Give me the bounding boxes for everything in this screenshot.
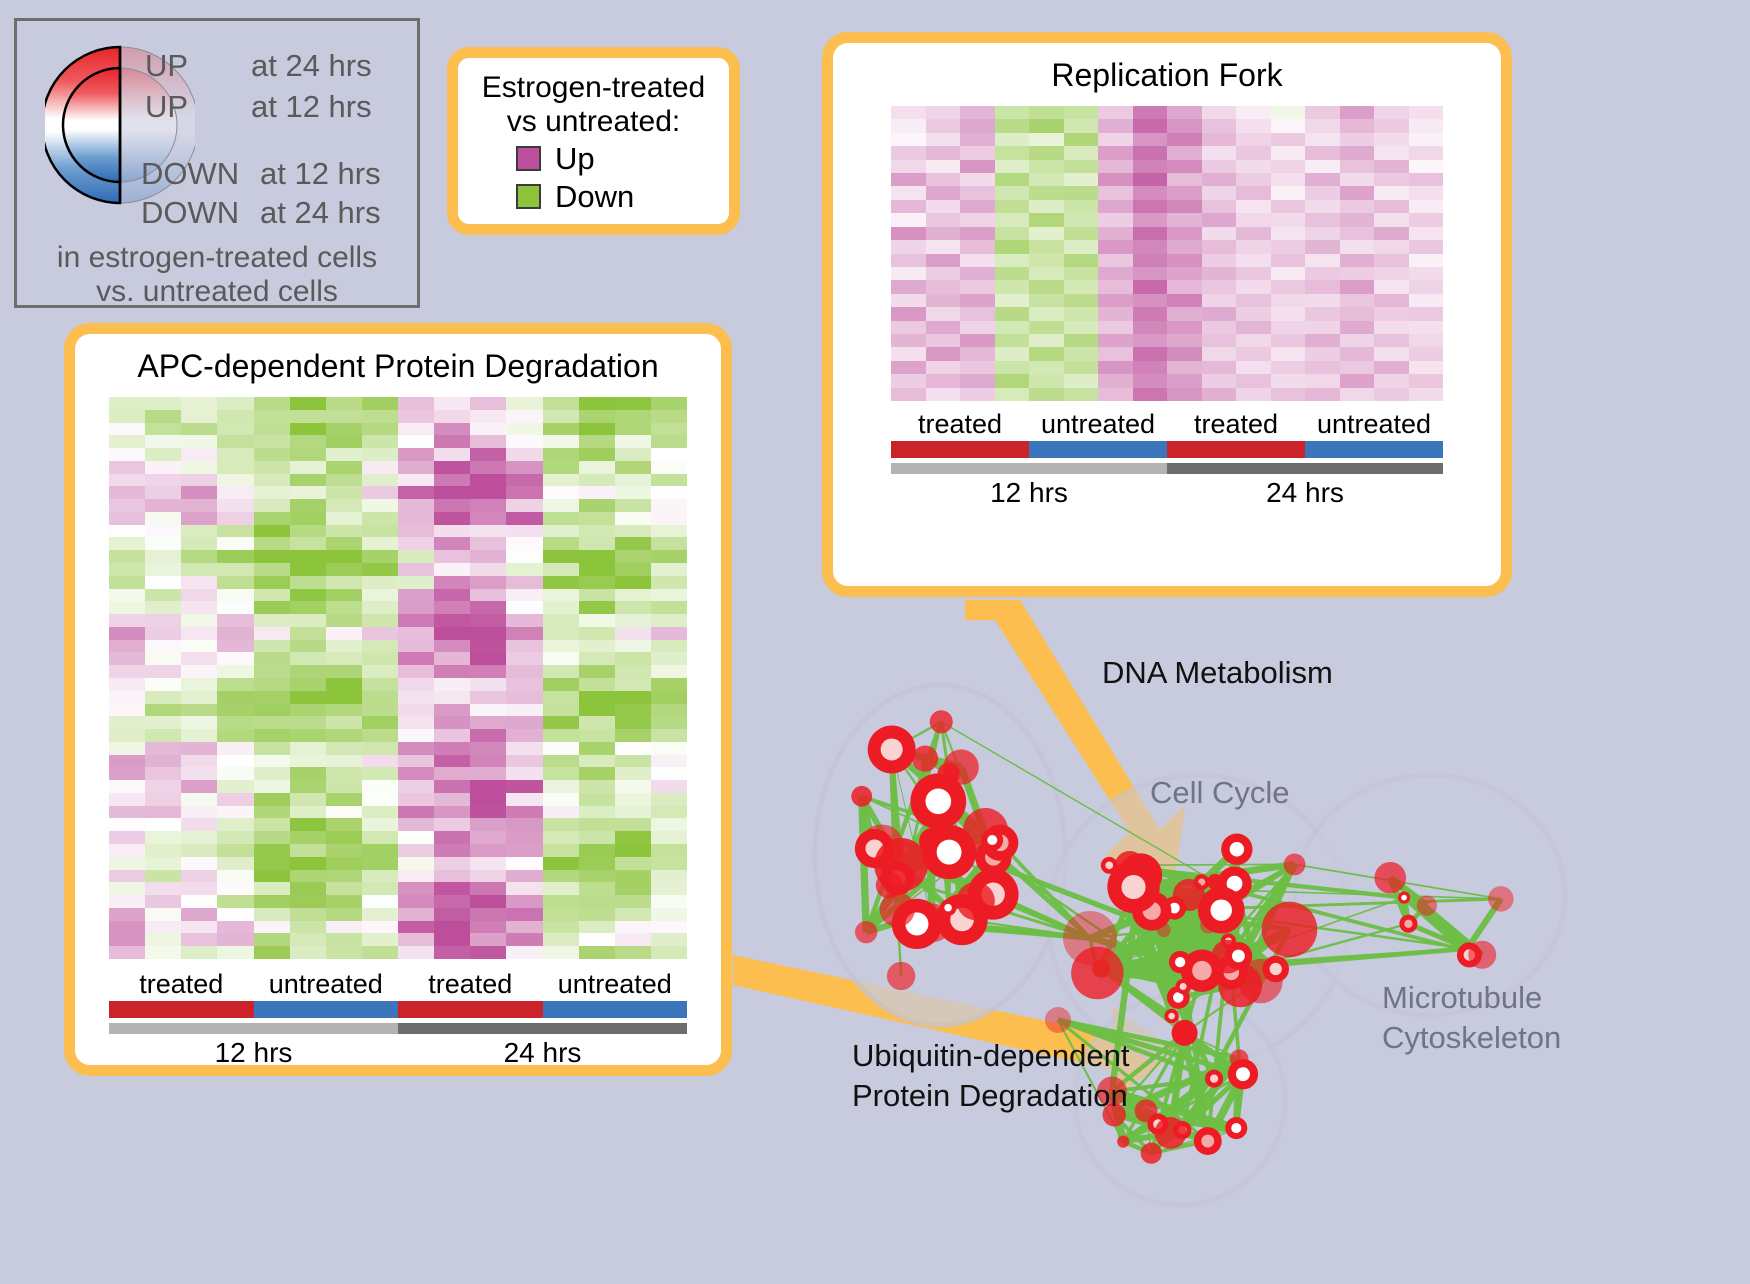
time-bar-0 [109, 1023, 398, 1034]
heatmap-apc-degradation [109, 397, 687, 959]
network-node [1284, 854, 1306, 876]
sample-label-1: untreated [1029, 409, 1167, 440]
network-node [1141, 1143, 1162, 1164]
timepoint-label-0: 12 hrs [109, 1037, 398, 1069]
key-legend-item-up: Up [516, 141, 595, 177]
network-node [981, 829, 1003, 851]
ring-state-3: DOWN [141, 195, 239, 231]
sample-color-bar [109, 1001, 687, 1018]
panel-replication-fork: Replication Fork treated untreated treat… [822, 32, 1512, 597]
down-color-swatch [516, 184, 541, 209]
network-node [1262, 956, 1289, 983]
network-node [1169, 951, 1191, 973]
network-node [1230, 1049, 1249, 1068]
updown-key-box: Estrogen-treated vs untreated: Up Down [447, 47, 740, 235]
network-node [1135, 1099, 1158, 1122]
cluster-label-ubiquitin-line2: Protein Degradation [852, 1078, 1128, 1114]
network-node [1198, 887, 1245, 934]
network-node [880, 892, 915, 927]
time-bar-0 [891, 463, 1167, 474]
network-node [912, 746, 938, 772]
network-node [1063, 911, 1117, 965]
ring-time-1: at 12 hrs [251, 89, 372, 125]
ring-legend-box: UP at 24 hrs UP at 12 hrs DOWN at 12 hrs… [14, 18, 420, 308]
key-legend-title-line2: vs untreated: [507, 105, 680, 139]
timepoint-color-bar [109, 1023, 687, 1034]
sample-bar-1 [254, 1001, 399, 1018]
timepoint-label-0: 12 hrs [891, 477, 1167, 509]
network-node [1374, 862, 1406, 894]
network-node [887, 962, 915, 990]
sample-label-3: untreated [1305, 409, 1443, 440]
sample-bar-3 [1305, 441, 1443, 458]
sample-bar-0 [109, 1001, 254, 1018]
up-color-swatch [516, 146, 541, 171]
sample-label-0: treated [891, 409, 1029, 440]
network-node [1045, 1007, 1071, 1033]
time-bar-1 [398, 1023, 687, 1034]
network-node [1107, 861, 1159, 913]
network-node [957, 882, 995, 920]
network-node [874, 838, 928, 892]
sample-label-0: treated [109, 969, 254, 1000]
key-legend-title-line1: Estrogen-treated [482, 71, 705, 105]
network-node [855, 921, 877, 943]
network-node [868, 725, 916, 773]
network-node [940, 899, 957, 916]
sample-bar-0 [891, 441, 1029, 458]
sample-label-2: treated [398, 969, 543, 1000]
down-label: Down [555, 179, 634, 215]
timepoint-label-1: 24 hrs [398, 1037, 687, 1069]
network-node [1207, 874, 1223, 890]
network-graph [790, 620, 1750, 1279]
ring-footer-line1: in estrogen-treated cells [17, 240, 417, 275]
network-node [1221, 834, 1252, 865]
network-node [851, 786, 872, 807]
network-node [937, 763, 959, 785]
network-node [1262, 902, 1318, 958]
cluster-label-microtubule: Microtubule [1382, 980, 1542, 1016]
network-node [1176, 979, 1191, 994]
network-node [1225, 942, 1253, 970]
time-bar-1 [1167, 463, 1443, 474]
network-node [1399, 915, 1417, 933]
sample-label-1: untreated [254, 969, 399, 1000]
network-node [922, 825, 976, 879]
network-node [1205, 1070, 1223, 1088]
ring-state-2: DOWN [141, 156, 239, 192]
ring-footer-line2: vs. untreated cells [17, 274, 417, 309]
timepoint-color-bar [891, 463, 1443, 474]
up-label: Up [555, 141, 595, 177]
cluster-label-ubiquitin-line1: Ubiquitin-dependent [852, 1038, 1130, 1074]
network-node [1225, 1117, 1247, 1139]
cluster-label-cell-cycle: Cell Cycle [1150, 775, 1290, 811]
cluster-label-cytoskeleton: Cytoskeleton [1382, 1020, 1561, 1056]
ring-time-2: at 12 hrs [260, 156, 381, 192]
sample-annotation-apc: treated untreated treated untreated 12 h… [109, 969, 687, 1069]
network-node [1172, 1020, 1198, 1046]
ring-time-3: at 24 hrs [260, 195, 381, 231]
sample-bar-2 [398, 1001, 543, 1018]
timepoint-label-1: 24 hrs [1167, 477, 1443, 509]
pathway-network-diagram: DNA Metabolism Cell Cycle Microtubule Cy… [790, 620, 1750, 1279]
sample-bar-3 [543, 1001, 688, 1018]
ring-time-0: at 24 hrs [251, 48, 372, 84]
network-node [1155, 1117, 1187, 1149]
sample-annotation-replication-fork: treated untreated treated untreated 12 h… [891, 409, 1443, 509]
panel-title-replication-fork: Replication Fork [833, 57, 1501, 94]
cluster-label-dna-metabolism: DNA Metabolism [1102, 655, 1333, 691]
network-node [1398, 891, 1410, 903]
network-node [1417, 895, 1437, 915]
sample-bar-2 [1167, 441, 1305, 458]
ring-state-1: UP [145, 89, 188, 125]
panel-title-apc: APC-dependent Protein Degradation [75, 348, 721, 385]
network-node [1468, 941, 1496, 969]
ring-state-0: UP [145, 48, 188, 84]
heatmap-replication-fork [891, 106, 1443, 401]
panel-apc-degradation: APC-dependent Protein Degradation treate… [64, 323, 732, 1076]
sample-bar-1 [1029, 441, 1167, 458]
network-node [1194, 1127, 1222, 1155]
network-node [1117, 1135, 1129, 1147]
sample-label-2: treated [1167, 409, 1305, 440]
network-node [1488, 886, 1513, 911]
sample-color-bar [891, 441, 1443, 458]
key-legend-item-down: Down [516, 179, 634, 215]
network-node [1164, 1009, 1178, 1023]
sample-label-3: untreated [543, 969, 688, 1000]
network-node [930, 710, 953, 733]
